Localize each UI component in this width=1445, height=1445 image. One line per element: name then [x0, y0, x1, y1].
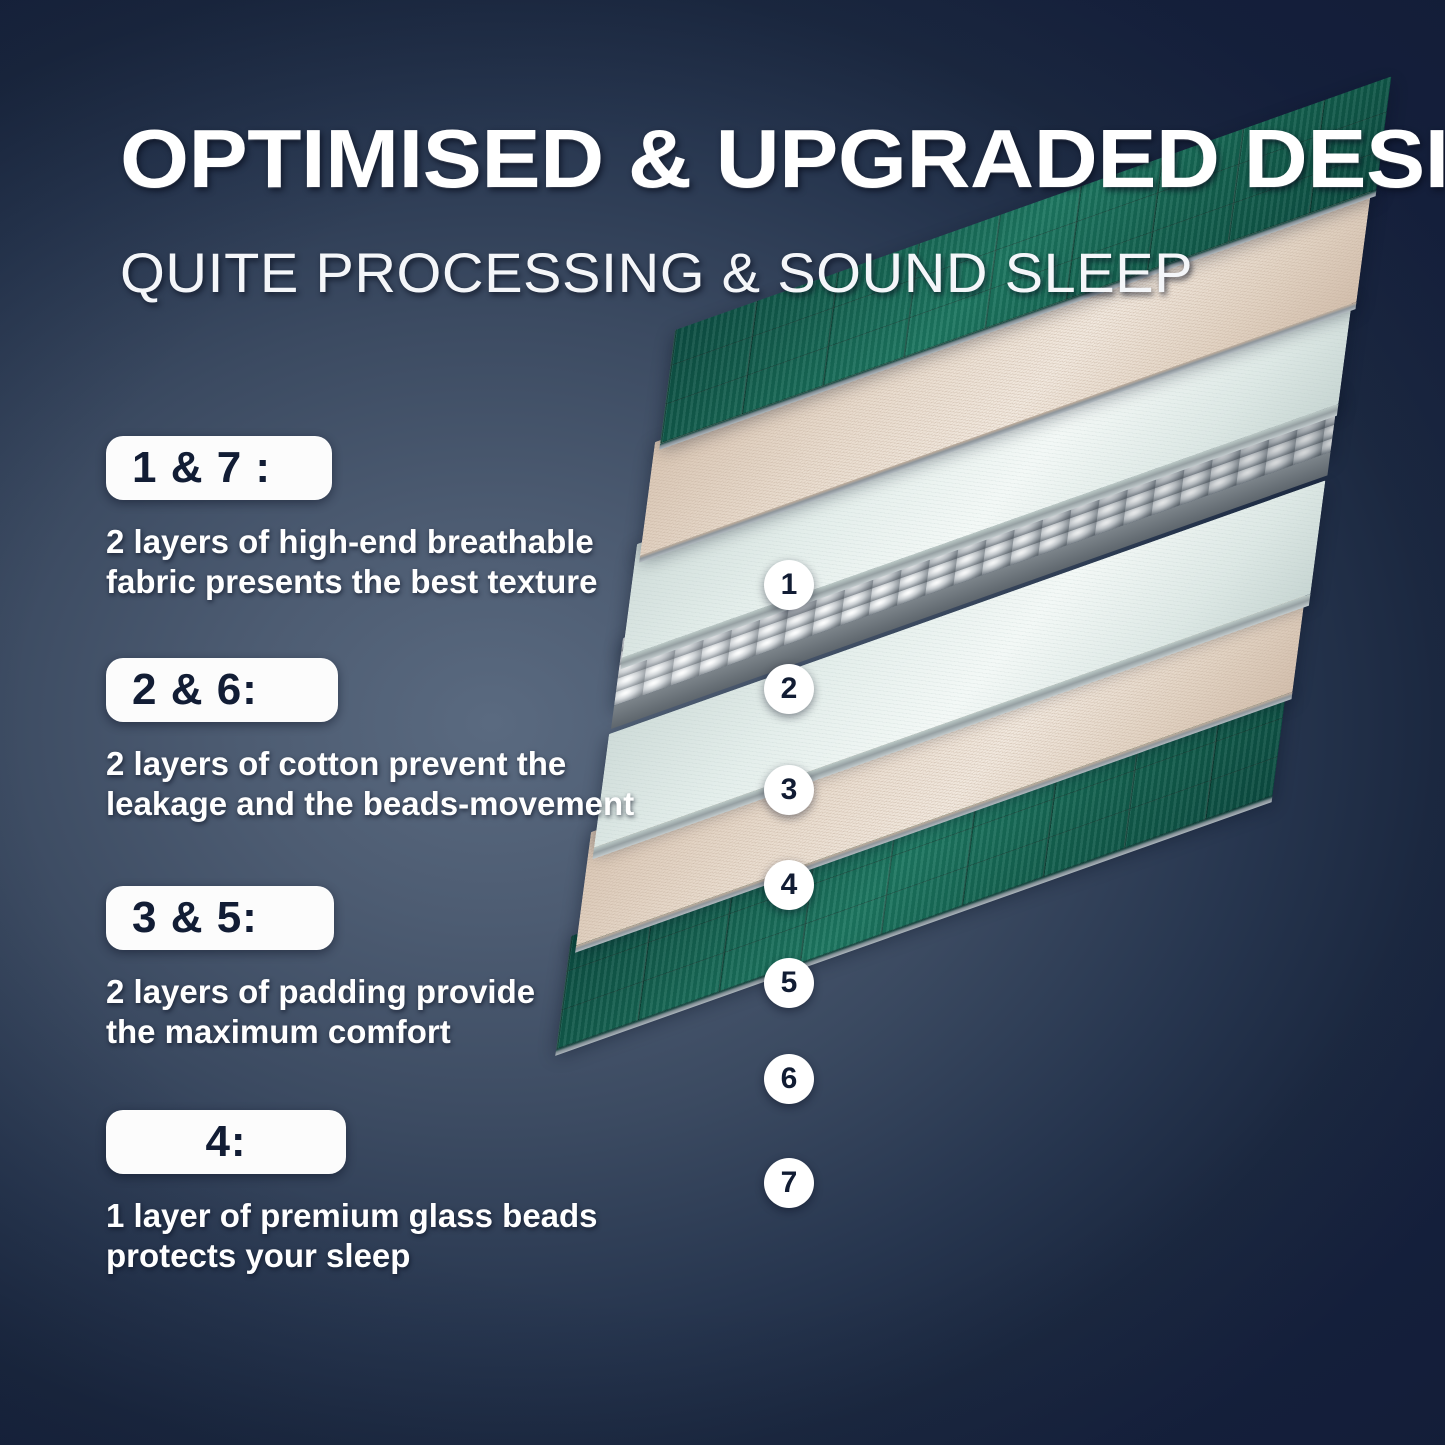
layer-marker-label: 3 — [781, 775, 798, 805]
layer-marker-label: 5 — [781, 968, 798, 998]
layer-marker-group: 1 2 3 4 5 6 7 — [0, 0, 1445, 1445]
layer-marker-label: 2 — [781, 674, 798, 704]
layer-marker-7: 7 — [764, 1158, 814, 1208]
layer-marker-label: 4 — [781, 870, 798, 900]
layer-marker-label: 7 — [781, 1168, 798, 1198]
layer-marker-6: 6 — [764, 1054, 814, 1104]
infographic-canvas: OPTIMISED & UPGRADED DESIGN QUITE PROCES… — [0, 0, 1445, 1445]
layer-marker-label: 6 — [781, 1064, 798, 1094]
layer-marker-5: 5 — [764, 958, 814, 1008]
layer-marker-4: 4 — [764, 860, 814, 910]
layer-marker-3: 3 — [764, 765, 814, 815]
layer-marker-2: 2 — [764, 664, 814, 714]
layer-marker-1: 1 — [764, 560, 814, 610]
layer-marker-label: 1 — [781, 570, 798, 600]
